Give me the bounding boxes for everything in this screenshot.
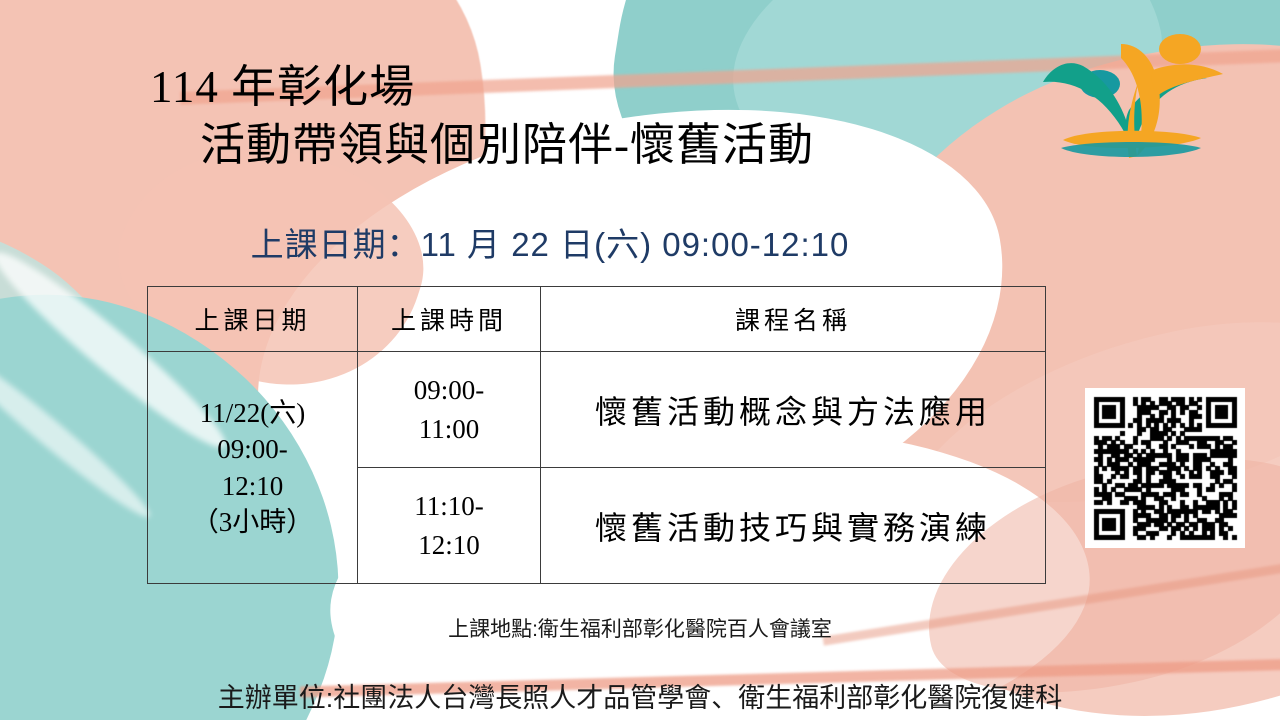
title-line-1: 114 年彰化場 (150, 62, 980, 112)
organizer-line: 主辦單位:社團法人台灣長照人才品管學會、衛生福利部彰化醫院復健科 (0, 676, 1280, 715)
cell-time-1: 09:00-11:00 (358, 352, 541, 468)
cell-course-2: 懷舊活動技巧與實務演練 (541, 468, 1046, 584)
title-line-2: 活動帶領與個別陪伴-懷舊活動 (150, 120, 980, 170)
course-date-subtitle: 上課日期：11 月 22 日(六) 09:00-12:10 (0, 218, 1100, 266)
table-row: 11/22(六)09:00-12:10（3小時） 09:00-11:00 懷舊活… (148, 352, 1046, 468)
poster-title: 114 年彰化場 活動帶領與個別陪伴-懷舊活動 (150, 62, 980, 171)
header-time: 上課時間 (358, 287, 541, 352)
cell-course-1: 懷舊活動概念與方法應用 (541, 352, 1046, 468)
cell-date-range: 11/22(六)09:00-12:10（3小時） (148, 352, 358, 584)
qr-code-image (1085, 388, 1245, 548)
header-course: 課程名稱 (541, 287, 1046, 352)
registration-qr-code[interactable] (1085, 388, 1245, 548)
poster-canvas: 114 年彰化場 活動帶領與個別陪伴-懷舊活動 上課日期：11 月 22 日(六… (0, 0, 1280, 720)
poster-content: 114 年彰化場 活動帶領與個別陪伴-懷舊活動 上課日期：11 月 22 日(六… (0, 0, 1280, 720)
cell-time-2: 11:10-12:10 (358, 468, 541, 584)
table-header-row: 上課日期 上課時間 課程名稱 (148, 287, 1046, 352)
header-date: 上課日期 (148, 287, 358, 352)
schedule-table: 上課日期 上課時間 課程名稱 11/22(六)09:00-12:10（3小時） … (147, 286, 1046, 584)
course-location: 上課地點:衛生福利部彰化醫院百人會議室 (0, 613, 1280, 643)
